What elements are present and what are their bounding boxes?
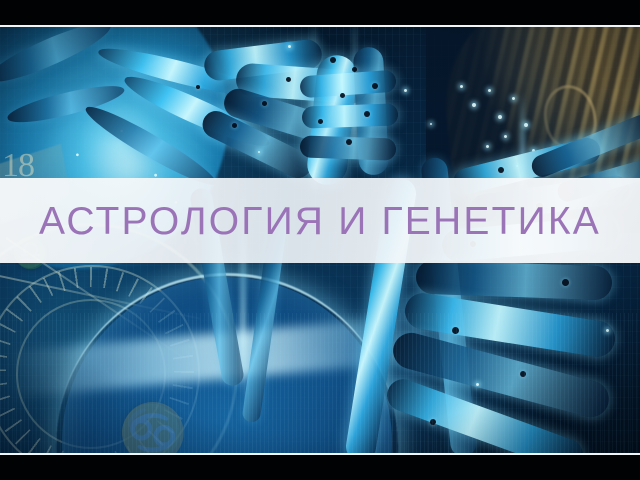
- title-banner: АСТРОЛОГИЯ И ГЕНЕТИКА: [0, 178, 640, 263]
- page-title: АСТРОЛОГИЯ И ГЕНЕТИКА: [39, 202, 601, 241]
- video-thumbnail: 18 ♋ ♎: [0, 0, 640, 480]
- letterbox-divider-top: [0, 25, 640, 27]
- letterbox-bar-bottom: [0, 455, 640, 480]
- letterbox-divider-bottom: [0, 453, 640, 455]
- scanline-texture: [0, 313, 640, 453]
- letterbox-bar-top: [0, 0, 640, 25]
